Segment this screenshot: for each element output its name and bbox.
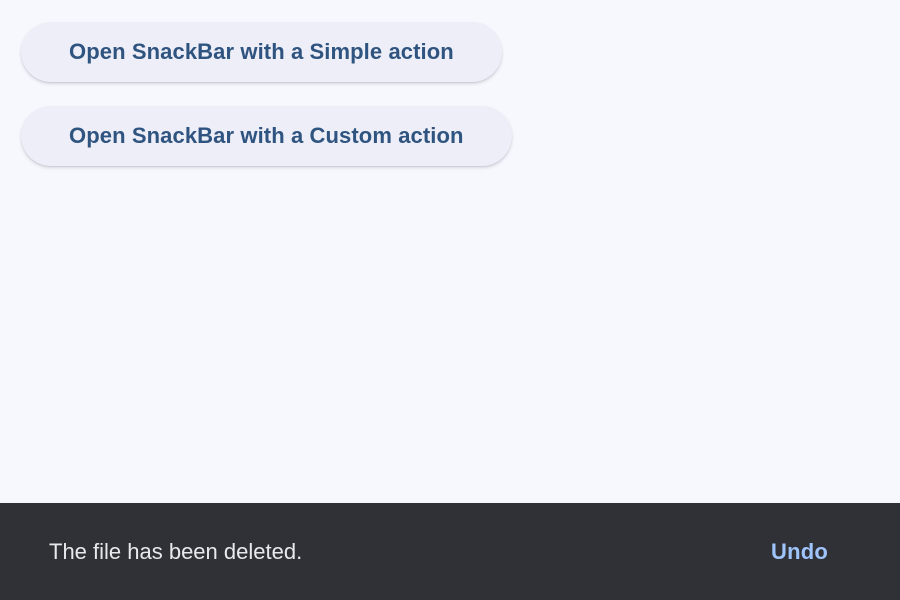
snackbar: The file has been deleted. Undo <box>0 503 900 600</box>
open-snackbar-custom-button-label: Open SnackBar with a Custom action <box>69 125 464 147</box>
snackbar-undo-button[interactable]: Undo <box>771 541 828 563</box>
snackbar-message: The file has been deleted. <box>49 541 302 563</box>
open-snackbar-simple-button-label: Open SnackBar with a Simple action <box>69 41 454 63</box>
open-snackbar-custom-button[interactable]: Open SnackBar with a Custom action <box>21 106 512 166</box>
open-snackbar-simple-button[interactable]: Open SnackBar with a Simple action <box>21 22 502 82</box>
app-root: Open SnackBar with a Simple action Open … <box>0 0 900 600</box>
button-stack: Open SnackBar with a Simple action Open … <box>21 22 512 166</box>
